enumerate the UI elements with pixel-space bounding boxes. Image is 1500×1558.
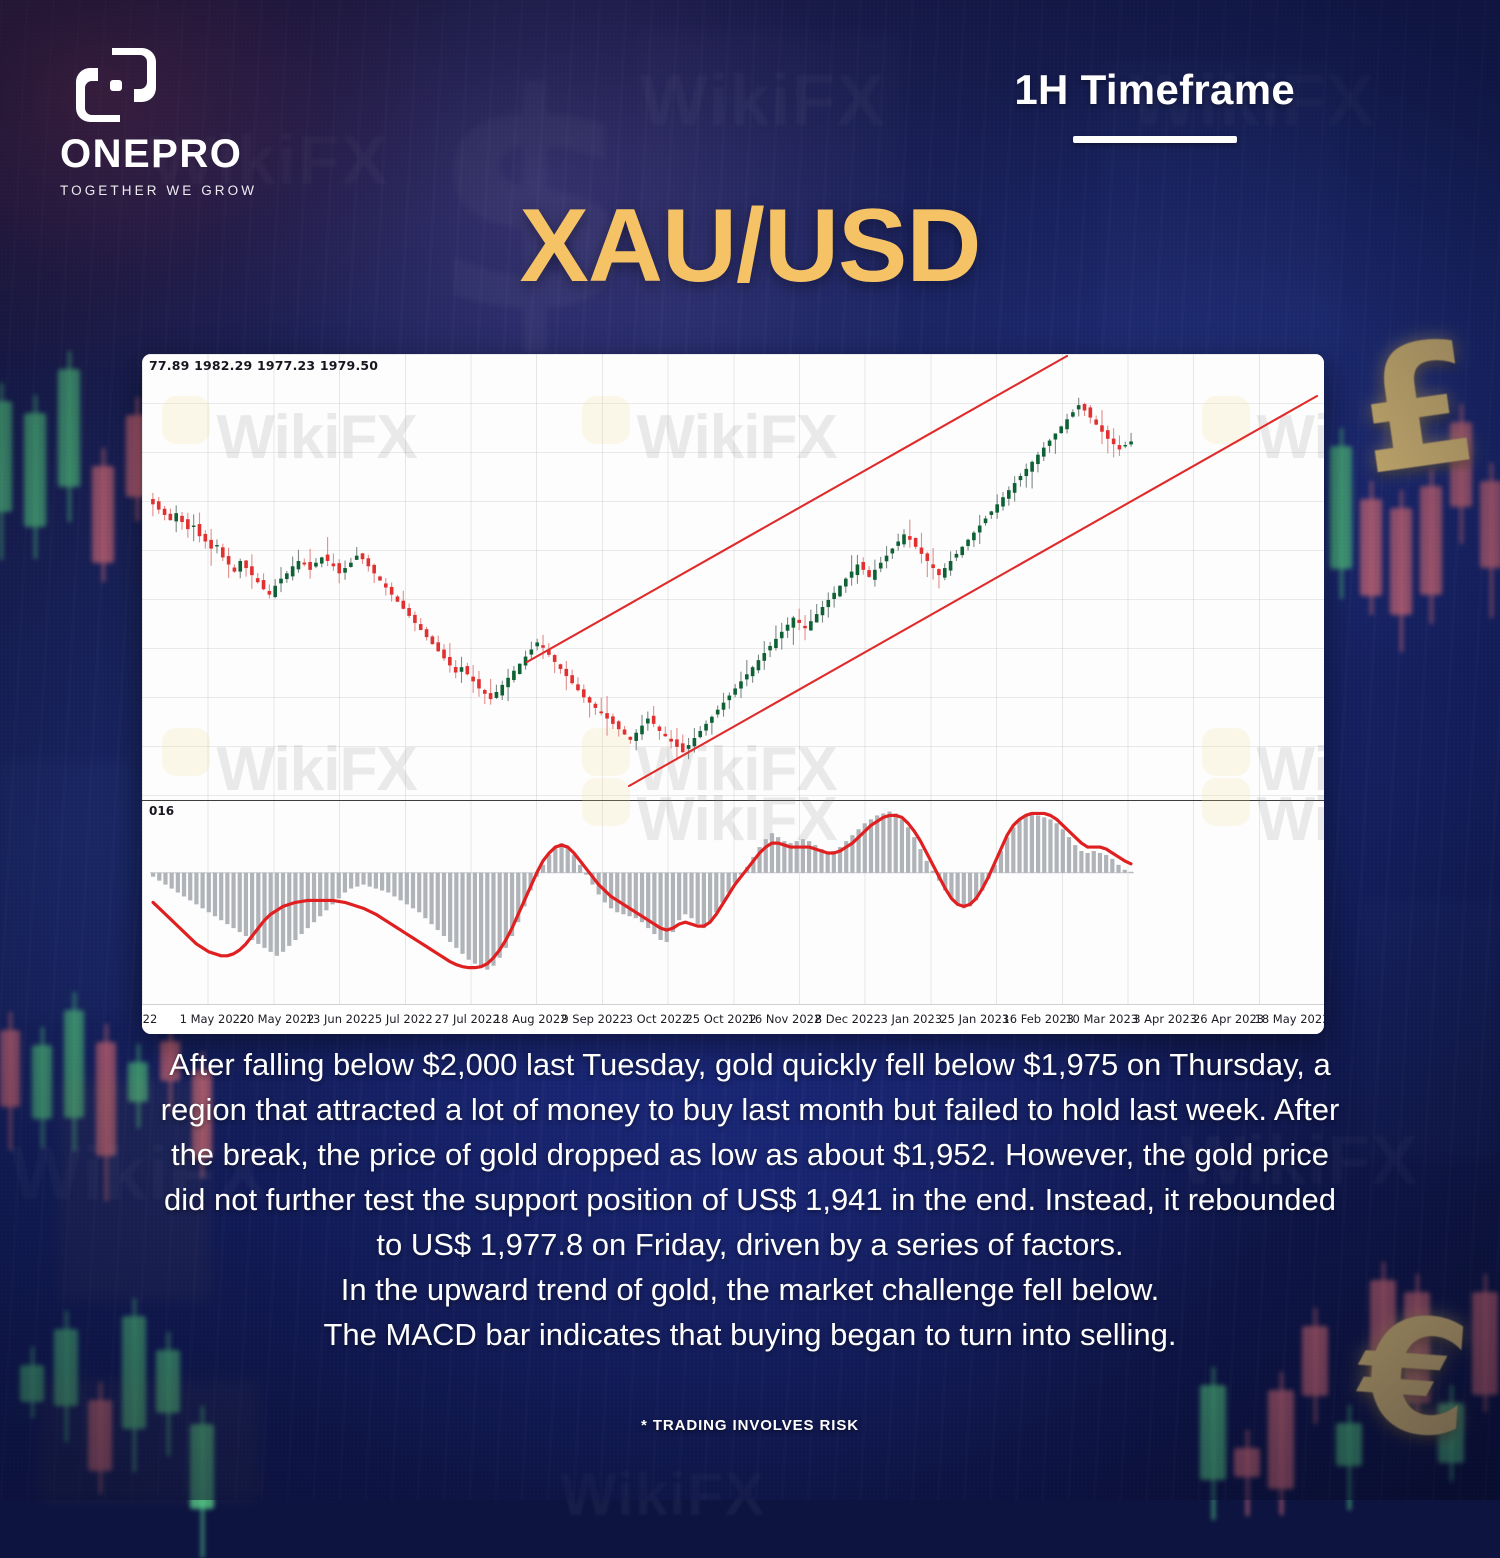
timeframe-block: 1H Timeframe <box>1014 66 1295 143</box>
x-axis-tick: 18 May 2023 <box>1255 1012 1325 1026</box>
x-axis-tick: 16 Nov 2022 <box>748 1012 822 1026</box>
x-axis-tick: 26 Apr 2023 <box>1193 1012 1264 1026</box>
x-axis-tick: 27 Jul 2022 <box>435 1012 500 1026</box>
article-paragraph-1: After falling below $2,000 last Tuesday,… <box>150 1042 1350 1267</box>
x-axis-tick: 1 May 2022 <box>180 1012 248 1026</box>
macd-histogram-and-signal <box>142 801 1324 1004</box>
timeframe-label: 1H Timeframe <box>1014 66 1295 114</box>
brand-logo-block[interactable]: ONEPRO TOGETHER WE GROW <box>60 42 270 198</box>
article-paragraph-2: In the upward trend of gold, the market … <box>150 1267 1350 1312</box>
x-axis-tick: 13 Jun 2022 <box>306 1012 375 1026</box>
macd-panel[interactable]: 016 <box>142 800 1324 1005</box>
x-axis-tick: 9 Sep 2022 <box>561 1012 627 1026</box>
x-axis-tick: 25 Jan 2023 <box>940 1012 1009 1026</box>
article-paragraph-3: The MACD bar indicates that buying began… <box>150 1312 1350 1357</box>
x-axis-tick: 10 Mar 2023 <box>1065 1012 1138 1026</box>
x-axis-tick: 5 Jul 2022 <box>375 1012 433 1026</box>
x-axis-tick: 8 Dec 2022 <box>815 1012 881 1026</box>
x-axis-tick: 20 May 2022 <box>239 1012 314 1026</box>
chart-card[interactable]: WikiFXWikiFXWikiFXWikiFXWikiFXWikiFXWiki… <box>142 354 1324 1034</box>
x-axis-tick: 3 Jan 2023 <box>881 1012 943 1026</box>
page-title: XAU/USD <box>0 194 1500 298</box>
price-chart-panel[interactable]: 77.89 1982.29 1977.23 1979.50 <box>142 354 1324 800</box>
x-axis-tick: 25 Oct 2022 <box>685 1012 756 1026</box>
x-axis-tick: 18 Aug 2022 <box>494 1012 568 1026</box>
two-linked-rounded-squares-icon <box>68 42 164 128</box>
risk-disclaimer: * TRADING INVOLVES RISK <box>0 1417 1500 1434</box>
article-body: After falling below $2,000 last Tuesday,… <box>150 1042 1350 1357</box>
x-axis-tick: 22 <box>143 1012 158 1026</box>
trend-channel-lines <box>142 354 1324 800</box>
brand-name: ONEPRO <box>60 134 270 174</box>
macd-value-label: 016 <box>149 804 174 818</box>
x-axis-tick: 3 Apr 2023 <box>1133 1012 1197 1026</box>
timeframe-underline <box>1073 136 1237 143</box>
x-axis-tick: 3 Oct 2022 <box>626 1012 690 1026</box>
x-axis-tick: 16 Feb 2023 <box>1002 1012 1074 1026</box>
x-axis: 221 May 202220 May 202213 Jun 20225 Jul … <box>142 1004 1324 1034</box>
